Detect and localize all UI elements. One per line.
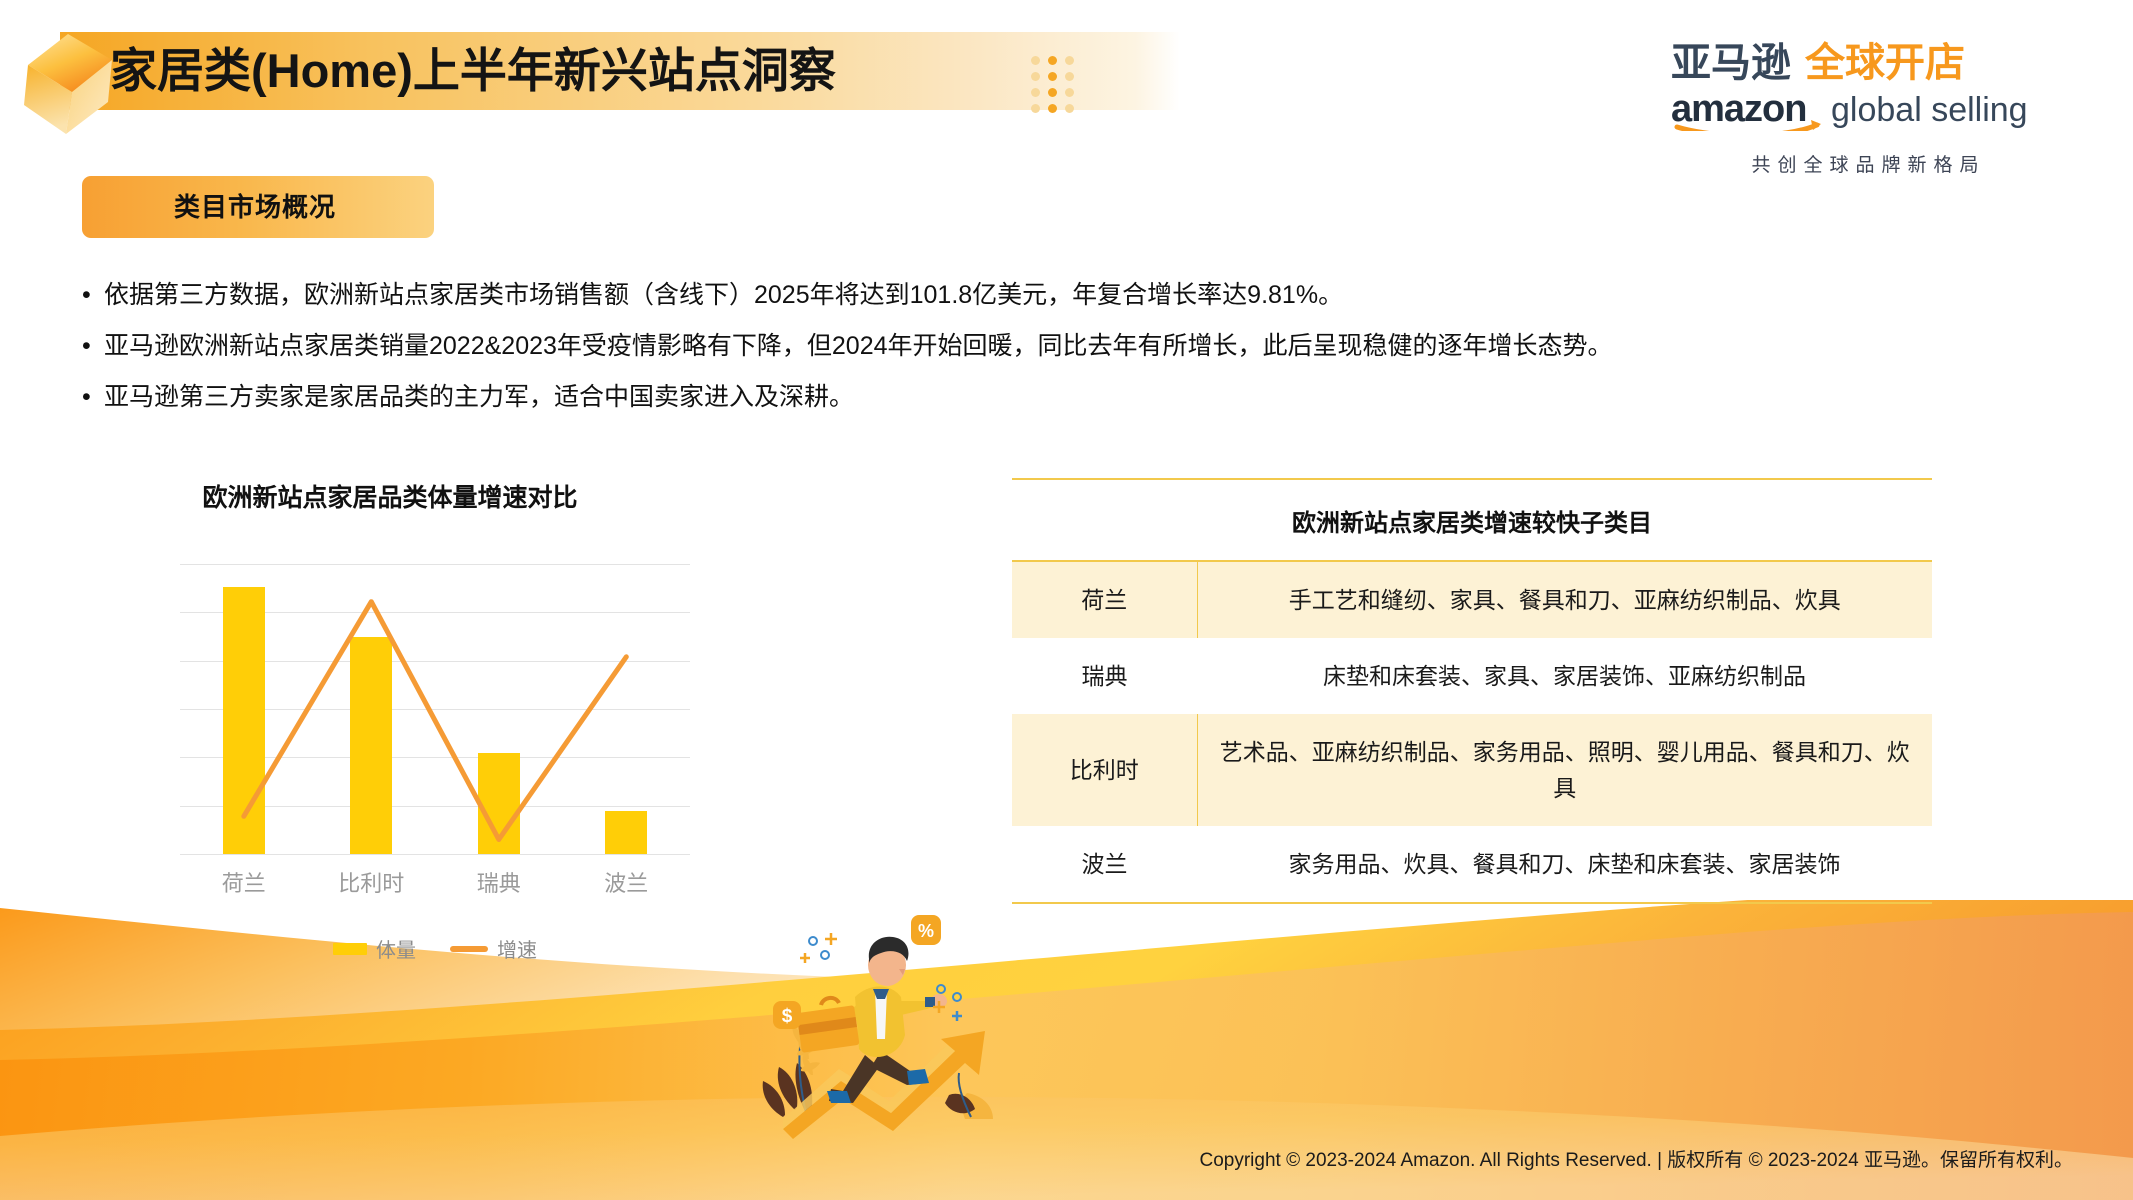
chart-title: 欧洲新站点家居品类体量增速对比 [180, 478, 600, 514]
chart-block: 欧洲新站点家居品类体量增速对比 荷兰比利时瑞典波兰 体量 增速 [190, 478, 750, 963]
x-axis-label: 荷兰 [222, 866, 266, 898]
dollar-badge-icon: $ [773, 1001, 801, 1029]
logo-en-brand: amazon [1671, 88, 1806, 130]
logo-cn-accent: 全球开店 [1804, 40, 1965, 85]
svg-text:$: $ [782, 1006, 793, 1027]
table-title: 欧洲新站点家居类增速较快子类目 [1012, 481, 1932, 561]
logo-tagline: 共创全球品牌新格局 [1655, 150, 2075, 177]
bullet-item: • 依据第三方数据，欧洲新站点家居类市场销售额（含线下）2025年将达到101.… [82, 278, 2072, 312]
table-row: 波兰家务用品、炊具、餐具和刀、床垫和床套装、家居装饰 [1012, 826, 1932, 903]
logo-chinese-line: 亚马逊 全球开店 [1655, 36, 2075, 86]
table-cell-subcategories: 床垫和床套装、家具、家居装饰、亚麻纺织制品 [1197, 638, 1932, 714]
slide-root: 家居类(Home)上半年新兴站点洞察 亚马逊 全球开店 amazon globa… [0, 0, 2133, 1200]
legend-label: 增速 [497, 934, 537, 963]
bullet-text: 亚马逊欧洲新站点家居类销量2022&2023年受疫情影略有下降，但2024年开始… [104, 329, 1613, 363]
table-cell-subcategories: 艺术品、亚麻纺织制品、家务用品、照明、婴儿用品、餐具和刀、炊具 [1197, 714, 1932, 826]
cube-icon [14, 28, 122, 140]
table-cell-country: 比利时 [1012, 714, 1197, 826]
businessman-running-up-arrow-illustration: % $ [735, 905, 1015, 1145]
dot-grid-icon [1031, 56, 1082, 120]
table-row: 瑞典床垫和床套装、家具、家居装饰、亚麻纺织制品 [1012, 638, 1932, 714]
chart-plot-area [180, 564, 690, 854]
briefcase-icon [796, 998, 859, 1053]
x-axis-label: 比利时 [338, 866, 404, 898]
table-cell-country: 荷兰 [1012, 561, 1197, 638]
x-axis-label: 波兰 [604, 866, 648, 898]
logo-cn-brand: 亚马逊 [1671, 41, 1791, 85]
legend-swatch-bar-icon [333, 943, 367, 955]
table-row: 比利时艺术品、亚麻纺织制品、家务用品、照明、婴儿用品、餐具和刀、炊具 [1012, 714, 1932, 826]
bullet-marker: • [82, 278, 104, 312]
legend-swatch-line-icon [450, 946, 488, 952]
subcategory-table: 欧洲新站点家居类增速较快子类目 荷兰手工艺和缝纫、家具、餐具和刀、亚麻纺织制品、… [1012, 478, 1932, 904]
page-title: 家居类(Home)上半年新兴站点洞察 [110, 38, 836, 104]
percent-badge-icon: % [911, 915, 941, 945]
plant-right-icon [945, 1073, 993, 1119]
bullet-text: 亚马逊第三方卖家是家居品类的主力军，适合中国卖家进入及深耕。 [104, 380, 854, 414]
logo-english-line: amazon global selling [1655, 87, 2075, 131]
footer-copyright: Copyright © 2023-2024 Amazon. All Rights… [1200, 1145, 2074, 1172]
bullet-marker: • [82, 380, 104, 414]
svg-text:%: % [918, 921, 934, 941]
bullet-list: • 依据第三方数据，欧洲新站点家居类市场销售额（含线下）2025年将达到101.… [82, 278, 2072, 431]
section-badge: 类目市场概况 [82, 176, 434, 238]
amazon-global-selling-logo: 亚马逊 全球开店 amazon global selling 共创全球品牌新格局 [1655, 36, 2075, 177]
table-cell-country: 瑞典 [1012, 638, 1197, 714]
x-axis-label: 瑞典 [477, 866, 521, 898]
legend-label: 体量 [376, 934, 416, 963]
table-cell-country: 波兰 [1012, 826, 1197, 903]
table-cell-subcategories: 手工艺和缝纫、家具、餐具和刀、亚麻纺织制品、炊具 [1197, 561, 1932, 638]
chart-legend: 体量 增速 [180, 934, 690, 963]
section-badge-label: 类目市场概况 [82, 176, 434, 238]
legend-item-volume: 体量 [333, 934, 416, 963]
bullet-item: • 亚马逊第三方卖家是家居品类的主力军，适合中国卖家进入及深耕。 [82, 380, 2072, 414]
bullet-item: • 亚马逊欧洲新站点家居类销量2022&2023年受疫情影略有下降，但2024年… [82, 329, 2072, 363]
legend-item-growth: 增速 [450, 934, 537, 963]
table-row: 荷兰手工艺和缝纫、家具、餐具和刀、亚麻纺织制品、炊具 [1012, 561, 1932, 638]
chart-line-path [244, 602, 627, 840]
bullet-text: 依据第三方数据，欧洲新站点家居类市场销售额（含线下）2025年将达到101.8亿… [104, 278, 1343, 312]
bullet-marker: • [82, 329, 104, 363]
chart-line-series [180, 564, 690, 854]
table-cell-subcategories: 家务用品、炊具、餐具和刀、床垫和床套装、家居装饰 [1197, 826, 1932, 903]
chart-x-axis-labels: 荷兰比利时瑞典波兰 [180, 866, 690, 900]
logo-en-accent: global selling [1831, 91, 2028, 129]
gridline [180, 854, 690, 855]
